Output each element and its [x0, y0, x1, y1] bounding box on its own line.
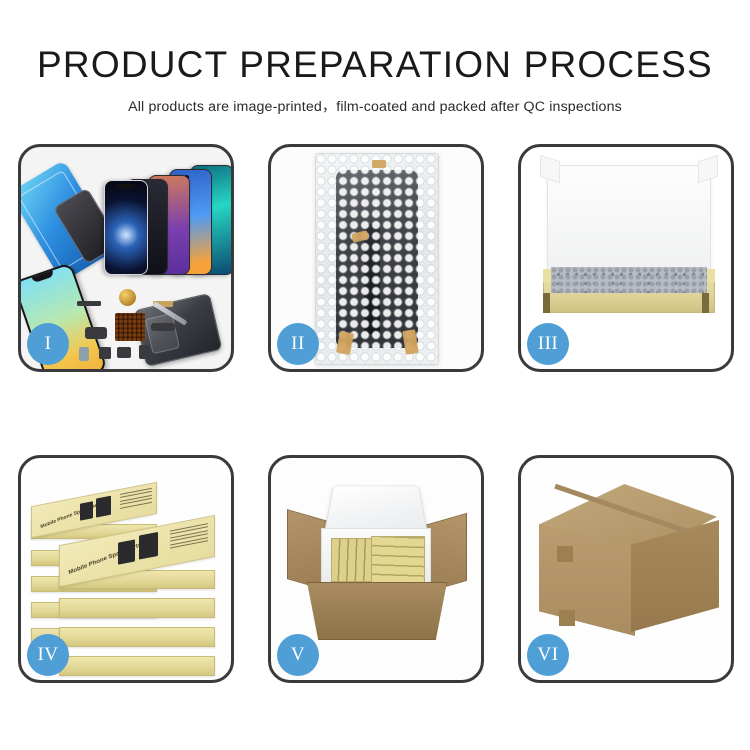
page-title: PRODUCT PREPARATION PROCESS: [0, 44, 750, 86]
box-spec-lines: [120, 488, 152, 511]
process-step-1[interactable]: I: [18, 144, 234, 372]
box-lid-open: [547, 165, 711, 273]
chip-grid-part: [115, 313, 145, 341]
tape-top: [372, 160, 386, 168]
sim-tray-part: [79, 347, 89, 361]
step-badge-2: II: [277, 323, 319, 365]
bubble-wrap-bag: [315, 153, 439, 365]
speaker-part: [119, 289, 136, 306]
box-phone-graphic: [139, 532, 158, 560]
step-badge-3: III: [527, 323, 569, 365]
stacked-box: [59, 627, 215, 647]
stacked-box: [59, 598, 215, 618]
bubble-texture: [316, 154, 438, 364]
connector-part: [77, 301, 101, 306]
page-root: PRODUCT PREPARATION PROCESS All products…: [0, 0, 750, 750]
carton-tape-upper: [557, 546, 573, 562]
process-grid: I II: [18, 144, 734, 684]
stacked-box: [59, 656, 215, 676]
foam-padding: [551, 267, 707, 293]
box-corner-right: [702, 293, 709, 313]
step-badge-4: IV: [27, 634, 69, 676]
carton-tape-lower: [559, 610, 575, 626]
phone-fan-group: [84, 153, 231, 275]
camera-part: [117, 347, 131, 358]
step-badge-6: VI: [527, 634, 569, 676]
box-corner-left: [543, 293, 550, 313]
process-step-2[interactable]: II: [268, 144, 484, 372]
inner-boxes-row: [371, 536, 425, 584]
process-step-5[interactable]: V: [268, 455, 484, 683]
button-part: [99, 347, 111, 359]
page-subtitle: All products are image-printed，film-coat…: [0, 96, 750, 116]
box-phone-graphic: [96, 496, 111, 518]
styrofoam-lid: [324, 486, 428, 533]
step-badge-5: V: [277, 634, 319, 676]
process-step-4[interactable]: Mobile Phone Spare Parts Mobile: [18, 455, 234, 683]
box-spec-lines: [170, 523, 208, 551]
box-phone-graphic: [80, 501, 93, 521]
module-part: [139, 345, 149, 359]
process-step-6[interactable]: VI: [518, 455, 734, 683]
ribbon-part: [151, 323, 175, 331]
carton-body: [307, 582, 447, 640]
spare-parts-group: [77, 287, 187, 369]
bracket-part: [85, 327, 107, 339]
header: PRODUCT PREPARATION PROCESS All products…: [0, 0, 750, 116]
process-step-3[interactable]: III: [518, 144, 734, 372]
box-phone-graphic: [118, 539, 135, 564]
phone-front-glass: [104, 180, 148, 275]
step-badge-1: I: [27, 323, 69, 365]
